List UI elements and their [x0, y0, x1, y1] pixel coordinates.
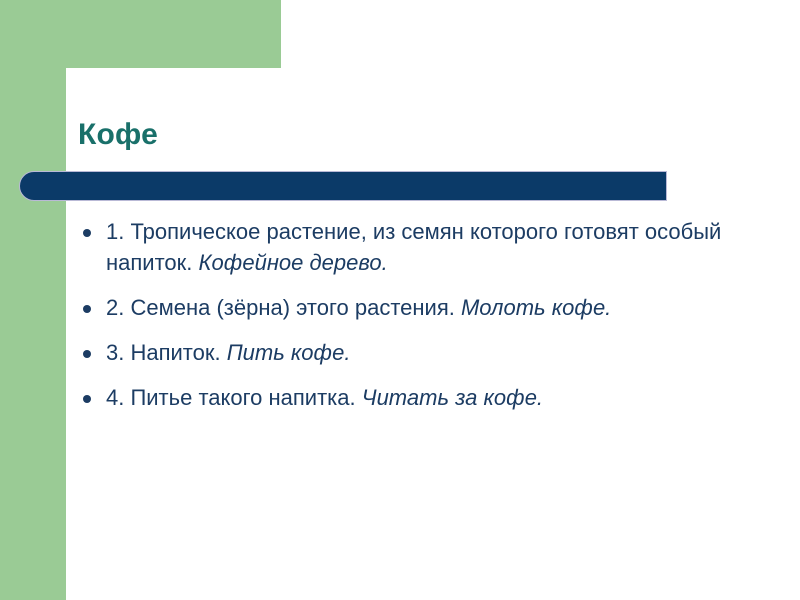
list-item: 2. Семена (зёрна) этого растения. Молоть…	[78, 292, 768, 323]
definition-list: 1. Тропическое растение, из семян которо…	[78, 216, 768, 413]
bullet-dot-icon	[83, 305, 91, 313]
list-item-emphasis: Кофейное дерево.	[199, 250, 388, 275]
list-item-emphasis: Молоть кофе.	[461, 295, 611, 320]
title-divider-bar	[19, 171, 667, 201]
list-item: 4. Питье такого напитка. Читать за кофе.	[78, 382, 768, 413]
bullet-dot-icon	[83, 350, 91, 358]
bullet-dot-icon	[83, 395, 91, 403]
list-item-text: 4. Питье такого напитка.	[106, 385, 362, 410]
presentation-slide: Кофе 1. Тропическое растение, из семян к…	[0, 0, 800, 600]
bullet-dot-icon	[83, 229, 91, 237]
page-title: Кофе	[78, 117, 158, 153]
list-item: 3. Напиток. Пить кофе.	[78, 337, 768, 368]
decorative-green-top-block	[0, 0, 281, 68]
list-item-text: 2. Семена (зёрна) этого растения.	[106, 295, 461, 320]
list-item-emphasis: Читать за кофе.	[362, 385, 543, 410]
list-item-text: 3. Напиток.	[106, 340, 227, 365]
list-item-emphasis: Пить кофе.	[227, 340, 351, 365]
decorative-green-left-strip	[0, 0, 66, 600]
list-item: 1. Тропическое растение, из семян которо…	[78, 216, 768, 278]
